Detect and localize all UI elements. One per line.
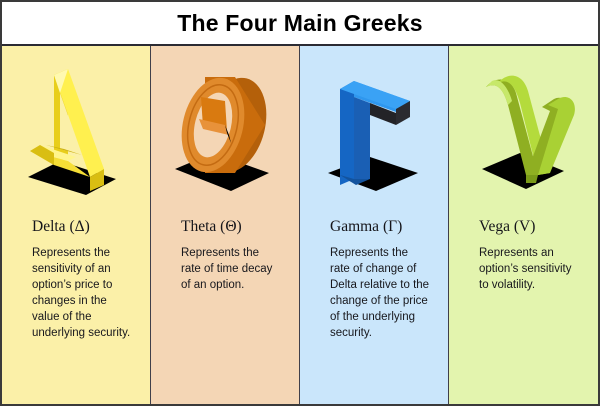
delta-triangle-3d-icon [16,57,136,207]
vega-description: Represents an option’s sensitivity to vo… [449,245,598,293]
page-title: The Four Main Greeks [177,10,423,37]
theta-text-area: Theta (Θ) Represents the rate of time de… [151,218,299,293]
delta-heading: Delta (Δ) [2,218,150,236]
gamma-heading: Gamma (Γ) [300,218,448,236]
vega-letter-3d-icon [464,57,584,207]
gamma-text-area: Gamma (Γ) Represents the rate of change … [300,218,448,341]
infographic-root: The Four Main Greeks TRADES [0,0,600,406]
greek-column-gamma: Gamma (Γ) Represents the rate of change … [300,46,449,404]
greek-column-delta: Delta (Δ) Represents the sensitivity of … [2,46,151,404]
delta-icon-area [2,46,150,218]
gamma-icon-area [300,46,448,218]
gamma-letter-3d-icon [314,57,434,207]
greek-column-vega: Vega (V) Represents an option’s sensitiv… [449,46,598,404]
theta-icon-area [151,46,299,218]
gamma-description: Represents the rate of change of Delta r… [300,245,448,341]
title-bar: The Four Main Greeks [2,2,598,46]
theta-ring-3d-icon [165,57,285,207]
vega-heading: Vega (V) [449,218,598,236]
theta-description: Represents the rate of time decay of an … [151,245,299,293]
vega-text-area: Vega (V) Represents an option’s sensitiv… [449,218,598,293]
delta-description: Represents the sensitivity of an option’… [2,245,150,341]
greek-column-theta: Theta (Θ) Represents the rate of time de… [151,46,300,404]
vega-icon-area [449,46,598,218]
greeks-columns: Delta (Δ) Represents the sensitivity of … [2,46,598,404]
theta-heading: Theta (Θ) [151,218,299,236]
delta-text-area: Delta (Δ) Represents the sensitivity of … [2,218,150,341]
